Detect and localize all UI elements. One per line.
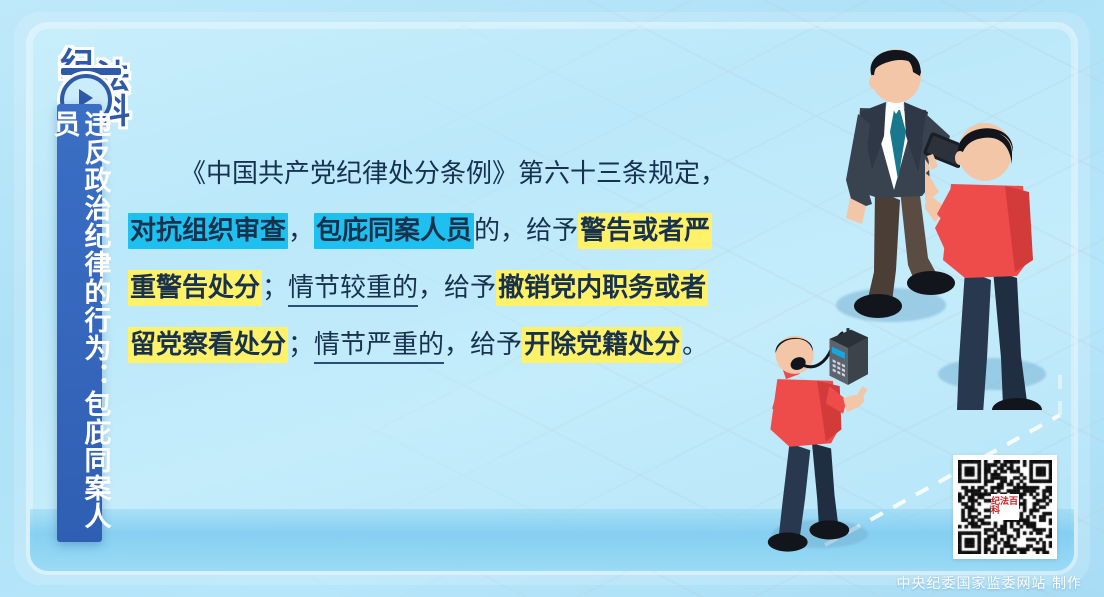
underline-qingjie-jiaozhong-de: 情节较重的 (288, 273, 418, 307)
article-line-2: 对抗组织审查，包庇同案人员的，给予警告或者严 (128, 203, 748, 260)
highlight-baobi-tongan-renyuan: 包庇同案人员 (314, 213, 474, 249)
article-line-3: 重警告处分；情节较重的，给予撤销党内职务或者 (128, 260, 748, 317)
line4-seg3: ，给予 (444, 330, 522, 360)
article-line-1-text: 《中国共产党纪律处分条例》第六十三条规定， (180, 159, 726, 189)
qr-center-logo-text: 纪法百科 (991, 498, 1019, 516)
line4-period: 。 (682, 330, 708, 360)
highlight-jinggao-huozhe-yan: 警告或者严 (578, 213, 712, 249)
vertical-title-banner: 违反政治纪律的行为：包庇同案人员 (57, 104, 102, 542)
qr-center-logo: 纪法百科 (991, 494, 1019, 520)
line2-sep1: ， (288, 216, 314, 246)
highlight-chexiao-dangnei-zhiwu: 撤销党内职务或者 (496, 270, 708, 306)
line3-sep1: ； (262, 273, 288, 303)
underline-qingjie-yanzhong-de: 情节严重的 (314, 330, 444, 364)
line4-sep1: ； (288, 330, 314, 360)
highlight-zhong-jinggao-chufen: 重警告处分 (128, 270, 262, 306)
poster-canvas: 纪 法 科 违反政治纪律的行为：包庇同案人员 《中国共产党纪律处分条例》第六十三… (0, 0, 1104, 597)
article-line-1: 《中国共产党纪律处分条例》第六十三条规定， (128, 146, 748, 203)
wall-payphone (825, 328, 871, 388)
credit-text: 中央纪委国家监委网站 制作 (897, 573, 1082, 593)
qr-code[interactable]: 纪法百科 (953, 455, 1057, 559)
line2-seg3: 的，给予 (474, 216, 578, 246)
article-text-block: 《中国共产党纪律处分条例》第六十三条规定， 对抗组织审查，包庇同案人员的，给予警… (128, 146, 748, 374)
line3-seg3: ，给予 (418, 273, 496, 303)
highlight-kaichu-dangji-chufen: 开除党籍处分 (522, 327, 682, 363)
highlight-liudang-chakan-chufen: 留党察看处分 (128, 327, 288, 363)
article-line-4: 留党察看处分；情节严重的，给予开除党籍处分。 (128, 317, 748, 374)
figure-man-in-red (925, 110, 1055, 410)
highlight-duikang-zuzhi-shencha: 对抗组织审查 (128, 213, 288, 249)
